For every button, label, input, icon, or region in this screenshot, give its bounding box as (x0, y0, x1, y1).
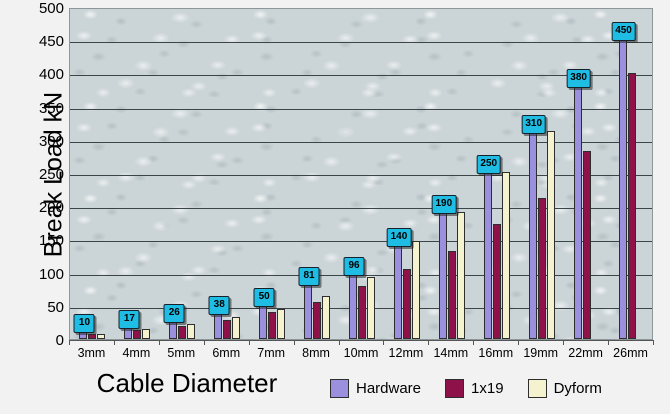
bar-hardware (484, 173, 492, 339)
bar-hardware (529, 133, 537, 339)
x-axis-tick-mark (159, 340, 160, 345)
bar-dyform (502, 172, 510, 339)
x-axis-tick-mark (518, 340, 519, 345)
legend-label: Dyform (554, 380, 602, 397)
legend: Hardware1x19Dyform (330, 379, 626, 398)
bar-group: 190 (439, 9, 465, 339)
bar-group: 140 (394, 9, 420, 339)
bar-group: 96 (349, 9, 375, 339)
x-axis-tick-label: 7mm (257, 346, 285, 360)
x-axis-tick-label: 10mm (344, 346, 379, 360)
x-axis-tick-label: 8mm (302, 346, 330, 360)
bar-dyform (277, 309, 285, 339)
bar-hardware (619, 40, 627, 339)
x-axis-tick-label: 14mm (433, 346, 468, 360)
x-axis-title: Cable Diameter (42, 368, 332, 399)
y-axis-tick-label: 450 (18, 33, 64, 50)
x-axis-tick-mark (653, 340, 654, 345)
legend-swatch (528, 379, 547, 398)
x-axis-tick-labels: 3mm4mm5mm6mm7mm8mm10mm12mm14mm16mm19mm22… (69, 346, 653, 364)
x-axis-tick-mark (69, 340, 70, 345)
bar-dyform (412, 241, 420, 339)
x-axis-tick-mark (383, 340, 384, 345)
bar-hardware (169, 322, 177, 339)
y-axis-tick-label: 300 (18, 133, 64, 150)
bar-group: 310 (529, 9, 555, 339)
x-axis-tick-mark (428, 340, 429, 345)
bar-hardware (394, 246, 402, 339)
bar-group: 10 (79, 9, 105, 339)
data-label-callout: 140 (387, 228, 412, 247)
bar-dyform (142, 329, 150, 339)
bar-dyform (547, 131, 555, 339)
data-label-callout: 17 (119, 310, 140, 329)
legend-swatch (330, 379, 349, 398)
data-label-callout: 250 (476, 155, 501, 174)
y-axis-tick-label: 50 (18, 299, 64, 316)
bar-1x19 (268, 312, 276, 339)
x-axis-tick-label: 22mm (568, 346, 603, 360)
legend-item: 1x19 (445, 379, 504, 398)
bar-group: 450 (619, 9, 645, 339)
legend-swatch (445, 379, 464, 398)
bar-hardware (214, 314, 222, 339)
data-label-callout: 26 (164, 304, 185, 323)
bar-1x19 (133, 330, 141, 339)
x-axis-tick-mark (473, 340, 474, 345)
x-axis-tick-label: 12mm (389, 346, 424, 360)
data-label-callout: 38 (209, 296, 230, 315)
bar-1x19 (178, 326, 186, 339)
x-axis-tick-mark (114, 340, 115, 345)
bar-group: 380 (574, 9, 600, 339)
y-axis-tick-label: 500 (18, 0, 64, 17)
bar-group: 26 (169, 9, 195, 339)
bar-1x19 (583, 151, 591, 339)
x-axis-tick-label: 19mm (523, 346, 558, 360)
y-axis-tick-label: 400 (18, 66, 64, 83)
bar-1x19 (628, 73, 636, 339)
bar-group: 81 (304, 9, 330, 339)
x-axis-tick-label: 26mm (613, 346, 648, 360)
x-axis-tick-mark (249, 340, 250, 345)
y-axis-tick-labels: 050100150200250300350400450500 (18, 8, 64, 340)
x-axis-tick-mark (294, 340, 295, 345)
bar-hardware (304, 285, 312, 339)
bar-hardware (439, 213, 447, 339)
x-axis-tick-mark (608, 340, 609, 345)
bar-1x19 (403, 269, 411, 339)
x-axis-tick-label: 4mm (122, 346, 150, 360)
bar-1x19 (538, 198, 546, 339)
bar-group: 38 (214, 9, 240, 339)
bar-hardware (574, 87, 582, 339)
y-axis-tick-label: 250 (18, 166, 64, 183)
y-axis-tick-label: 350 (18, 100, 64, 117)
y-axis-tick-label: 0 (18, 332, 64, 349)
data-label-callout: 96 (344, 257, 365, 276)
x-axis-tick-label: 3mm (78, 346, 106, 360)
data-label-callout: 310 (521, 115, 546, 134)
plot-area: 10172638508196140190250310380450 (69, 8, 653, 340)
bar-dyform (187, 324, 195, 339)
bar-hardware (124, 328, 132, 339)
legend-item: Hardware (330, 379, 421, 398)
bar-group: 250 (484, 9, 510, 339)
x-axis-tick-mark (339, 340, 340, 345)
y-axis-tick-label: 150 (18, 232, 64, 249)
bar-dyform (232, 317, 240, 339)
bar-1x19 (448, 251, 456, 339)
bar-group: 17 (124, 9, 150, 339)
bar-hardware (259, 306, 267, 339)
bar-1x19 (493, 224, 501, 339)
bar-dyform (457, 212, 465, 339)
x-axis-tick-label: 6mm (212, 346, 240, 360)
data-label-callout: 81 (299, 267, 320, 286)
data-label-callout: 50 (254, 288, 275, 307)
bar-chart: Break Load kN 05010015020025030035040045… (0, 0, 670, 414)
x-axis-tick-mark (563, 340, 564, 345)
data-label-callout: 380 (566, 69, 591, 88)
bars-layer: 10172638508196140190250310380450 (70, 9, 652, 339)
data-label-callout: 10 (74, 314, 95, 333)
bar-1x19 (88, 334, 96, 339)
data-label-callout: 190 (432, 195, 457, 214)
x-axis-tick-label: 5mm (167, 346, 195, 360)
bar-dyform (97, 334, 105, 339)
bar-hardware (349, 275, 357, 339)
bar-dyform (322, 296, 330, 339)
legend-label: Hardware (356, 380, 421, 397)
data-label-callout: 450 (611, 22, 636, 41)
bar-1x19 (313, 302, 321, 339)
y-axis-tick-label: 200 (18, 199, 64, 216)
x-axis-tick-label: 16mm (478, 346, 513, 360)
legend-item: Dyform (528, 379, 602, 398)
bar-1x19 (223, 320, 231, 339)
bar-1x19 (358, 286, 366, 339)
y-axis-tick-label: 100 (18, 266, 64, 283)
bar-group: 50 (259, 9, 285, 339)
legend-label: 1x19 (471, 380, 504, 397)
x-axis-tick-mark (204, 340, 205, 345)
bar-dyform (367, 277, 375, 339)
